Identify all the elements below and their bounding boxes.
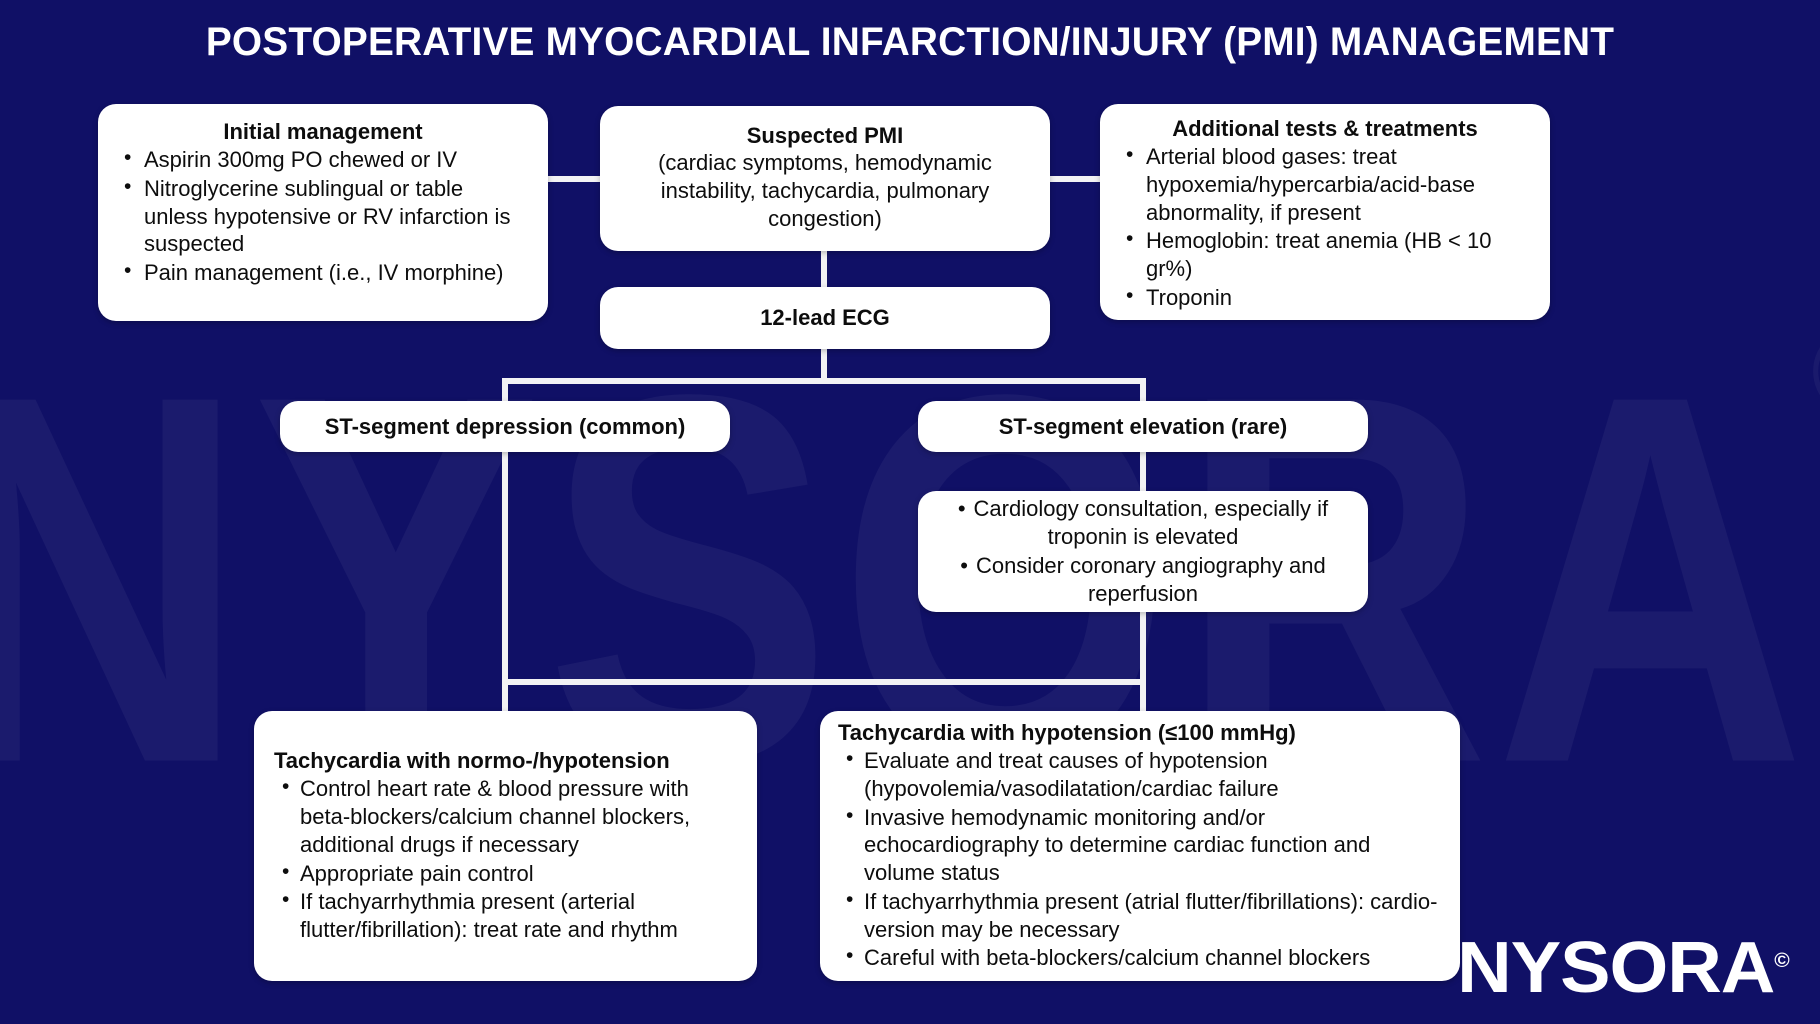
list-item: Control heart rate & blood pressure with… [274,775,737,858]
nysora-logo: NYSORA© [1457,932,1790,1004]
list-item: Pain management (i.e., IV morphine) [116,259,530,287]
card-tachycardia-normo-list: Control heart rate & blood pressure with… [274,775,737,944]
card-additional-tests-heading: Additional tests & treatments [1118,115,1532,142]
card-initial-management-list: Aspirin 300mg PO chewed or IV Nitroglyce… [116,146,530,287]
connector-to-st-depression [502,378,508,402]
connector-to-tachy-normo [502,679,508,711]
connector-ecg-split-bar [502,378,1146,384]
connector-to-st-elevation [1140,378,1146,402]
connector-initial-to-pmi [547,176,603,182]
connector-st-depression-down [502,448,508,685]
list-item: If tachyarrhythmia present (arterial flu… [274,888,737,943]
card-12-lead-ecg-heading: 12-lead ECG [760,304,890,331]
card-suspected-pmi-body: (cardiac symptoms, hemodynamic instabili… [618,149,1032,232]
list-item: Careful with beta-blockers/calcium chann… [838,944,1442,972]
card-tachycardia-hypo-list: Evaluate and treat causes of hypotension… [838,747,1442,973]
card-st-segment-depression-heading: ST-segment depression (common) [325,413,686,440]
nysora-logo-text: NYSORA [1457,928,1774,1008]
card-tachycardia-hypo-heading: Tachycardia with hypotension (≤100 mmHg) [838,719,1442,746]
connector-to-tachy-hypo [1140,679,1146,711]
card-tachycardia-hypotension[interactable]: Tachycardia with hypotension (≤100 mmHg)… [820,711,1460,981]
connector-ecg-stem [821,348,827,381]
page-title: POSTOPERATIVE MYOCARDIAL INFARCTION/INJU… [27,20,1792,65]
card-additional-tests-list: Arterial blood gases: treat hypoxemia/hy… [1118,143,1532,311]
card-additional-tests[interactable]: Additional tests & treatments Arterial b… [1100,104,1550,320]
card-suspected-pmi-heading: Suspected PMI [618,122,1032,149]
card-cardiology-consultation-list: •Cardiology consultation, especially if … [932,495,1354,608]
watermark-copyright-icon: © [1812,312,1820,434]
card-12-lead-ecg[interactable]: 12-lead ECG [600,287,1050,349]
list-item: Nitroglycerine sublingual or table unles… [116,175,530,258]
card-cardiology-consultation[interactable]: •Cardiology consultation, especially if … [918,491,1368,612]
list-item: If tachyarrhythmia present (atrial flutt… [838,888,1442,943]
connector-bottom-bar [502,679,1146,685]
card-st-segment-elevation[interactable]: ST-segment elevation (rare) [918,401,1368,452]
card-st-segment-depression[interactable]: ST-segment depression (common) [280,401,730,452]
card-st-segment-elevation-heading: ST-segment elevation (rare) [999,413,1288,440]
card-suspected-pmi[interactable]: Suspected PMI (cardiac symptoms, hemodyn… [600,106,1050,251]
copyright-icon: © [1775,950,1790,972]
connector-pmi-to-additional [1046,176,1102,182]
list-item: •Consider coronary angiography and reper… [932,552,1354,608]
bullet-icon: • [960,553,968,578]
card-tachycardia-normo-heading: Tachycardia with normo-/hypotension [274,747,737,774]
list-item: Aspirin 300mg PO chewed or IV [116,146,530,174]
list-item: Arterial blood gases: treat hypoxemia/hy… [1118,143,1532,226]
list-item: Evaluate and treat causes of hypotension… [838,747,1442,802]
card-tachycardia-normo-hypotension[interactable]: Tachycardia with normo-/hypotension Cont… [254,711,757,981]
list-item: •Cardiology consultation, especially if … [932,495,1354,551]
list-item: Troponin [1118,284,1532,312]
list-item: Invasive hemodynamic monitoring and/or e… [838,804,1442,887]
card-initial-management[interactable]: Initial management Aspirin 300mg PO chew… [98,104,548,321]
card-initial-management-heading: Initial management [116,118,530,145]
list-item: Hemoglobin: treat anemia (HB < 10 gr%) [1118,227,1532,282]
bullet-icon: • [958,496,966,521]
list-item: Appropriate pain control [274,860,737,888]
